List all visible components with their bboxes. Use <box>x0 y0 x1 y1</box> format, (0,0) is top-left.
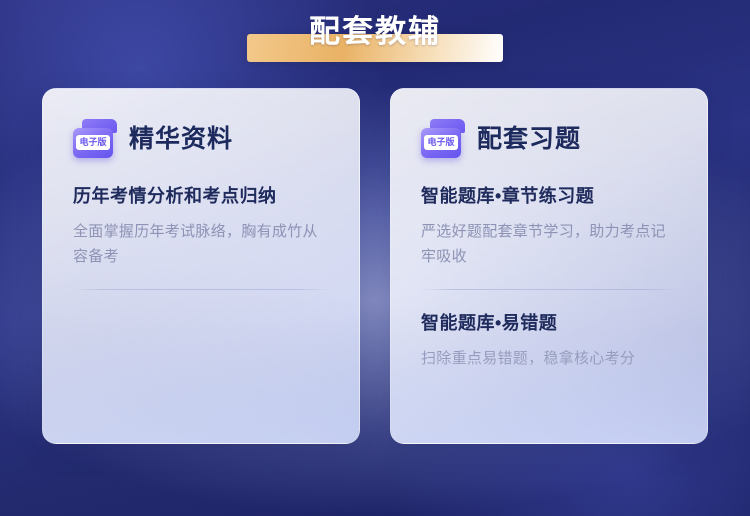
section-description: 严选好题配套章节学习，助力考点记牢吸收 <box>421 219 677 269</box>
card-section: 历年考情分析和考点归纳 全面掌握历年考试脉络，胸有成竹从容备考 <box>73 183 329 269</box>
card-title: 配套习题 <box>477 124 581 154</box>
card-header: 电子版 精华资料 <box>73 119 329 159</box>
card-essential-materials[interactable]: 电子版 精华资料 历年考情分析和考点归纳 全面掌握历年考试脉络，胸有成竹从容备考 <box>42 88 360 444</box>
ebook-icon-label: 电子版 <box>76 135 110 150</box>
card-title: 精华资料 <box>129 124 233 154</box>
promo-banner: 配套教辅 电子版 精华资料 历年考情分析和考点归纳 全面掌握历年考试脉络，胸有成… <box>0 0 750 516</box>
card-bottom-sheen <box>43 333 359 443</box>
page-title: 配套教辅 <box>309 12 441 52</box>
card-header: 电子版 配套习题 <box>421 119 677 159</box>
section-divider <box>421 289 677 290</box>
section-title: 智能题库•章节练习题 <box>421 183 677 209</box>
section-title: 历年考情分析和考点归纳 <box>73 183 329 209</box>
card-section: 智能题库•易错题 扫除重点易错题，稳拿核心考分 <box>421 310 677 371</box>
ebook-icon-label: 电子版 <box>424 135 458 150</box>
card-matching-exercises[interactable]: 电子版 配套习题 智能题库•章节练习题 严选好题配套章节学习，助力考点记牢吸收 … <box>390 88 708 444</box>
card-section: 智能题库•章节练习题 严选好题配套章节学习，助力考点记牢吸收 <box>421 183 677 269</box>
section-divider <box>73 289 329 290</box>
ebook-icon: 电子版 <box>421 119 465 159</box>
ebook-icon: 电子版 <box>73 119 117 159</box>
section-description: 扫除重点易错题，稳拿核心考分 <box>421 346 677 371</box>
page-title-block: 配套教辅 <box>0 12 750 52</box>
card-list: 电子版 精华资料 历年考情分析和考点归纳 全面掌握历年考试脉络，胸有成竹从容备考… <box>42 88 708 444</box>
section-description: 全面掌握历年考试脉络，胸有成竹从容备考 <box>73 219 329 269</box>
section-title: 智能题库•易错题 <box>421 310 677 336</box>
